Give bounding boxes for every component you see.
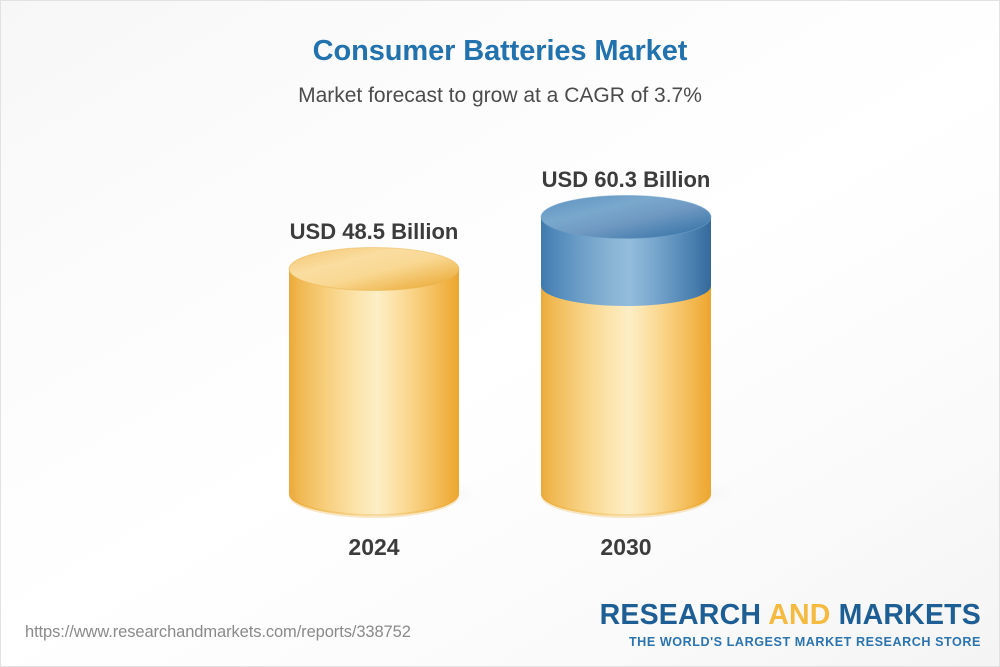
bar-value-label-2030: USD 60.3 Billion: [536, 167, 716, 193]
logo-text-and: AND: [768, 599, 830, 631]
cylinder-2030: [530, 196, 730, 531]
source-url[interactable]: https://www.researchandmarkets.com/repor…: [25, 623, 411, 642]
bar-group-2030: USD 60.3 Billion: [536, 1, 716, 667]
logo-text-markets: MARKETS: [831, 599, 981, 631]
chart-plot-area: USD 48.5 Billion: [1, 1, 1000, 667]
logo-wordmark: RESEARCH AND MARKETS: [600, 601, 981, 630]
infographic-canvas: Consumer Batteries Market Market forecas…: [0, 0, 1000, 667]
logo-tagline: THE WORLD'S LARGEST MARKET RESEARCH STOR…: [600, 636, 981, 649]
bar-category-label-2030: 2030: [536, 534, 716, 561]
bar-value-label-2024: USD 48.5 Billion: [284, 219, 464, 245]
brand-logo[interactable]: RESEARCH AND MARKETS THE WORLD'S LARGEST…: [600, 601, 981, 648]
cylinder-body: [289, 269, 459, 516]
cylinder-2024: [278, 249, 478, 529]
bar-category-label-2024: 2024: [284, 534, 464, 561]
cylinder-segment-base: [541, 286, 711, 516]
logo-text-research: RESEARCH: [600, 599, 769, 631]
bar-group-2024: USD 48.5 Billion: [284, 1, 464, 667]
